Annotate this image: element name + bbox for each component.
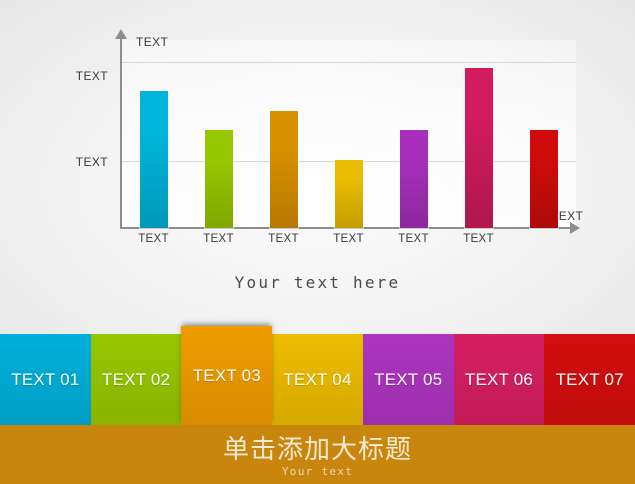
chart-caption: Your text here <box>0 273 635 292</box>
x-axis-tick-label: TEXT <box>319 233 379 245</box>
tab-7[interactable]: TEXT 07 <box>544 334 635 425</box>
bar <box>335 160 363 228</box>
tab-4[interactable]: TEXT 04 <box>272 334 363 425</box>
bar <box>140 91 168 228</box>
x-axis-tick-label: TEXT <box>449 233 509 245</box>
y-tick-label-lower: TEXT <box>48 155 108 169</box>
slide-canvas: TEXT TEXT TEXT TEXT TEXTTEXTTEXTTEXTTEXT… <box>0 0 635 484</box>
bar <box>205 130 233 228</box>
x-axis-tick-label: TEXT <box>124 233 184 245</box>
tab-label: TEXT 03 <box>193 366 261 386</box>
tab-label: TEXT 02 <box>102 370 170 390</box>
tab-label: TEXT 04 <box>283 370 351 390</box>
tab-1[interactable]: TEXT 01 <box>0 334 91 425</box>
x-axis-tick-label: TEXT <box>254 233 314 245</box>
tab-label: TEXT 01 <box>11 370 79 390</box>
y-axis-arrow-icon <box>115 29 127 39</box>
bar-series <box>121 40 576 228</box>
bar <box>530 130 558 228</box>
footer-bar: 单击添加大标题 Your text <box>0 425 635 484</box>
slide-subtitle: Your text <box>0 465 635 478</box>
x-axis-tick-label: TEXT <box>189 233 249 245</box>
tab-5[interactable]: TEXT 05 <box>363 334 454 425</box>
slide-title: 单击添加大标题 <box>0 429 635 466</box>
bar-chart: TEXT TEXT TEXT TEXT TEXTTEXTTEXTTEXTTEXT… <box>0 0 635 320</box>
bar <box>270 111 298 228</box>
tab-3[interactable]: TEXT 03 <box>181 326 272 425</box>
tab-2[interactable]: TEXT 02 <box>91 334 182 425</box>
tab-label: TEXT 06 <box>465 370 533 390</box>
bar <box>465 68 493 228</box>
tab-strip: TEXT 01TEXT 02TEXT 03TEXT 04TEXT 05TEXT … <box>0 334 635 425</box>
tab-label: TEXT 07 <box>556 370 624 390</box>
y-tick-label-upper: TEXT <box>48 69 108 83</box>
tab-6[interactable]: TEXT 06 <box>454 334 545 425</box>
bar <box>400 130 428 228</box>
tab-label: TEXT 05 <box>374 370 442 390</box>
x-axis-tick-label: TEXT <box>384 233 444 245</box>
x-axis-labels: TEXTTEXTTEXTTEXTTEXTTEXT <box>121 233 576 251</box>
